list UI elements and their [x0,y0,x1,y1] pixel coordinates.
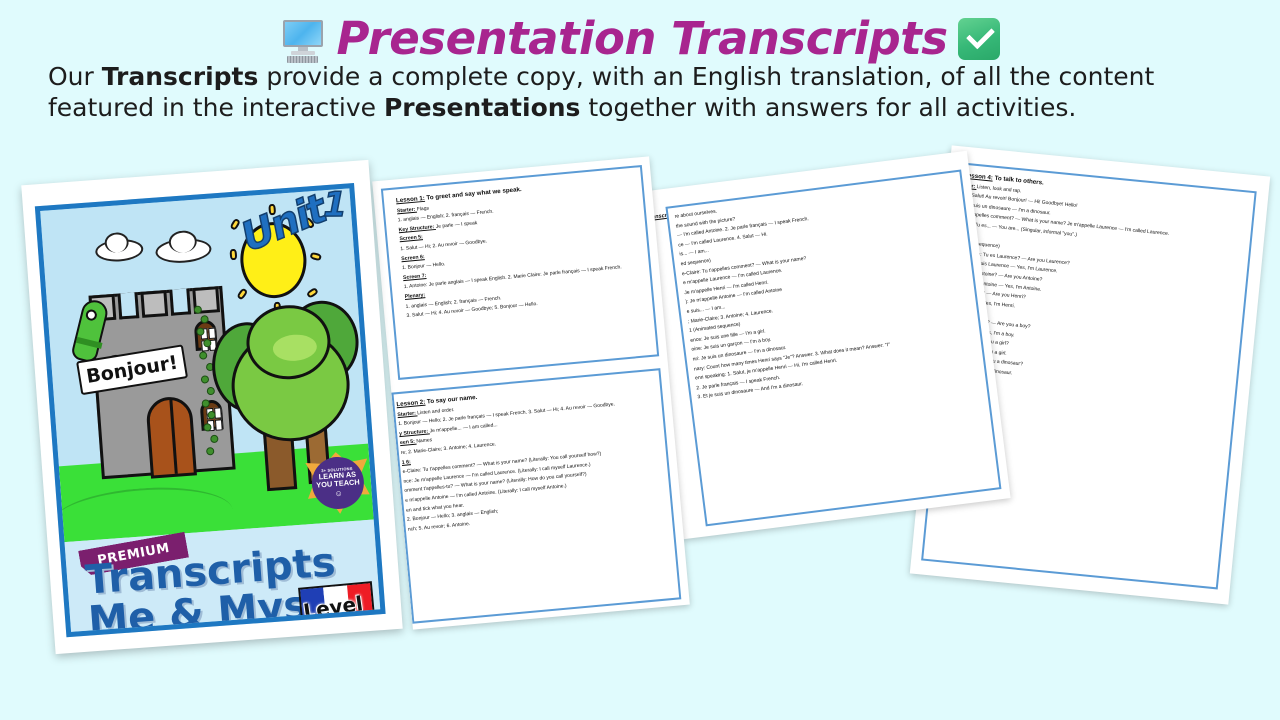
page-header: Presentation Transcripts Our Transcripts… [0,0,1280,145]
document-body: re about ourselves.the sound with the pi… [674,178,979,404]
lesson-heading-label: esson 4: [968,172,994,181]
transcript-line-text: nch; 5. Au revoir; 6. Antoine. [408,521,471,533]
transcript-document-lessons-1-2[interactable]: Lesson 1: To greet and say what we speak… [372,156,690,629]
lesson-2-sheet: Lesson 2: To say our name. Starter: List… [391,368,681,624]
transcript-line-label: y Structure: [399,428,430,437]
unit-number: 1 [323,185,345,225]
transcript-line-text: 1. Bonjour — Hello. [402,261,446,271]
transcript-line-label: een 5: [400,439,417,446]
transcript-line-text: Flags [417,205,430,212]
transcript-line-label: Screen 7: [403,273,427,281]
lesson-heading-label: Lesson 1: [396,195,425,205]
lesson-2-rows: Starter: Listen and order.1. Bonjour — H… [397,388,667,532]
cover-artwork: Unit1 [35,183,386,637]
transcript-line-text: Listen, look and rap. [976,184,1021,194]
transcript-line-label: 1 6: [402,459,411,466]
transcript-line-label: Starter: [397,410,417,418]
transcript-line-label: Plenary: [405,292,426,300]
transcript-line-label: Key Structure: [398,224,436,233]
document-body: Lesson 2: To say our name. Starter: List… [396,378,667,536]
transcript-document-middle[interactable]: Transcripts re about ourselves.the sound… [639,151,1010,540]
title-row: Presentation Transcripts [0,12,1280,65]
lesson-1-sheet: Lesson 1: To greet and say what we speak… [381,165,659,380]
document-body: Lesson 1: To greet and say what we speak… [396,176,646,323]
check-mark-button-icon [958,18,1000,60]
book-cover-transcripts[interactable]: Unit1 [21,160,402,654]
learn-as-you-teach-seal: 3+ SOLUTIONS LEARN AS YOU TEACH ☺ [305,450,371,516]
transcript-line-text: Names [416,438,432,445]
transcript-line-label: Screen 6: [401,254,425,262]
lesson-heading-label: Lesson 2: [396,399,425,409]
subtitle-text-3: together with answers for all activities… [580,93,1076,122]
page-title: Presentation Transcripts [336,12,947,65]
subtitle-bold-transcripts: Transcripts [102,62,259,91]
page-subtitle: Our Transcripts provide a complete copy,… [48,62,1248,123]
subtitle-text-1: Our [48,62,102,91]
lesson-heading-title: To say our name. [427,394,478,406]
lesson-heading-title: To talk to others. [994,175,1044,187]
transcript-line-text: Je parle — I speak [435,220,477,230]
person-icon: ☺ [334,489,343,499]
transcript-line-label: Screen 5: [399,235,423,243]
subtitle-bold-presentations: Presentations [384,93,580,122]
lesson-1-rows: Starter: Flags1. anglais — English; 2. f… [397,186,646,319]
document-border: re about ourselves.the sound with the pi… [665,170,1001,527]
desktop-computer-icon [280,16,326,62]
transcript-line-label: Starter: [397,206,417,214]
doc2-rows: re about ourselves.the sound with the pi… [674,178,978,400]
transcript-line-text: Listen and order. [417,407,455,416]
